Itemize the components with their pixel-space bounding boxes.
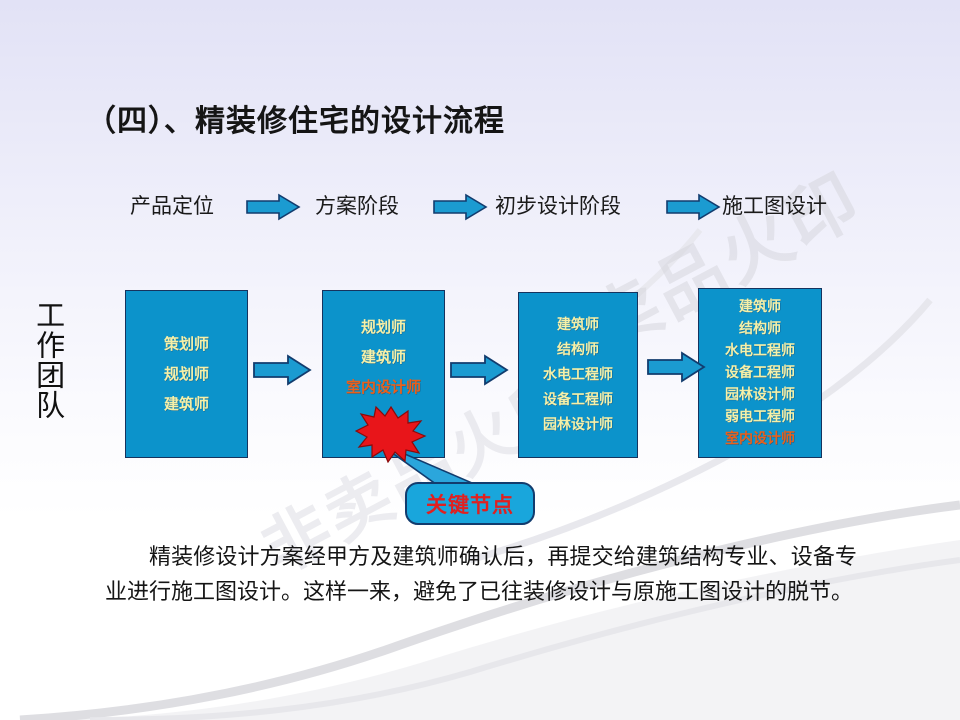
role-item: 建筑师 — [557, 313, 599, 338]
stage-arrow-3 — [665, 193, 721, 221]
team-box-construction-drawing: 建筑师 结构师 水电工程师 设备工程师 园林设计师 弱电工程师 室内设计师 — [698, 288, 822, 458]
body-paragraph: 精装修设计方案经甲方及建筑师确认后，再提交给建筑结构专业、设备专业进行施工图设计… — [105, 540, 857, 610]
stage-label-4: 施工图设计 — [722, 190, 827, 220]
role-item: 园林设计师 — [725, 384, 795, 406]
role-item: 建筑师 — [164, 390, 209, 418]
stage-label-3: 初步设计阶段 — [495, 190, 621, 220]
role-item: 建筑师 — [739, 296, 781, 318]
flow-arrow-1 — [252, 353, 312, 387]
role-item: 设备工程师 — [543, 388, 613, 413]
role-item-highlighted: 室内设计师 — [725, 428, 795, 450]
key-node-callout: 关键节点 — [405, 482, 535, 525]
role-item: 弱电工程师 — [725, 406, 795, 428]
explosion-burst-icon — [355, 405, 427, 463]
role-item: 水电工程师 — [543, 363, 613, 388]
role-item: 策划师 — [164, 330, 209, 358]
callout-label: 关键节点 — [426, 489, 514, 519]
role-item: 规划师 — [361, 313, 406, 341]
role-item: 规划师 — [164, 360, 209, 388]
stage-arrow-2 — [432, 193, 488, 221]
team-box-product-positioning: 策划师 规划师 建筑师 — [125, 290, 248, 458]
stage-label-2: 方案阶段 — [315, 190, 399, 220]
work-team-vertical-label: 工作团队 — [33, 300, 63, 420]
role-item-highlighted: 室内设计师 — [346, 373, 421, 401]
stage-label-1: 产品定位 — [130, 190, 214, 220]
role-item: 结构师 — [739, 318, 781, 340]
role-item: 水电工程师 — [725, 340, 795, 362]
page-title: （四）、精装修住宅的设计流程 — [86, 96, 505, 140]
flow-arrow-3 — [646, 350, 706, 384]
role-item: 结构师 — [557, 338, 599, 363]
role-item: 设备工程师 — [725, 362, 795, 384]
role-item: 建筑师 — [361, 343, 406, 371]
slide-canvas: 非卖品火印 非卖品火印 （四）、精装修住宅的设计流程 产品定位 方案阶段 初步设… — [0, 0, 960, 720]
stage-arrow-1 — [245, 193, 301, 221]
flow-arrow-2 — [449, 353, 509, 387]
